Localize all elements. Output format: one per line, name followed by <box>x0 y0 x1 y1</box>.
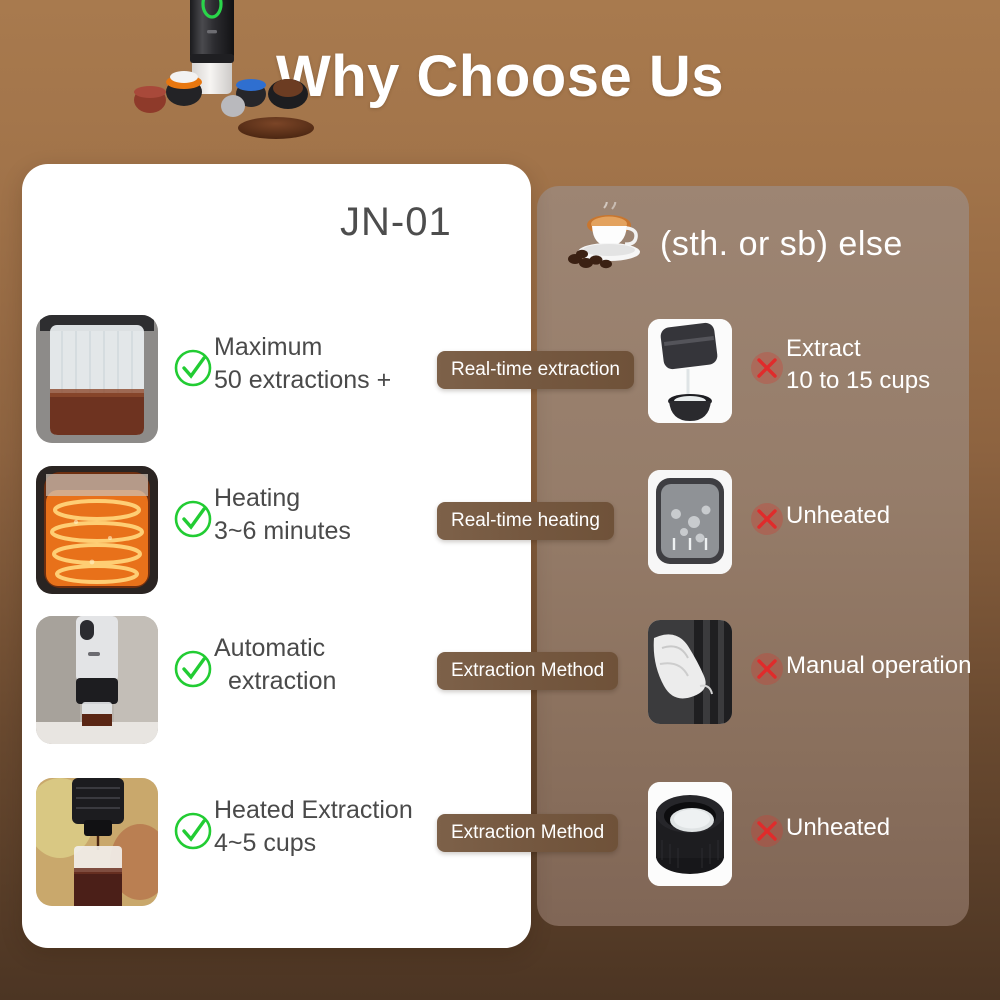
competitor-feature-text: Unheated <box>786 812 890 844</box>
our-feature-text: Heating3~6 minutes <box>214 482 351 548</box>
manual-press-pouring-thumbnail <box>648 319 732 423</box>
portable-espresso-machine-image <box>130 0 350 142</box>
automatic-brewing-machine-thumbnail <box>36 616 158 744</box>
competitor-feature-text: Extract10 to 15 cups <box>786 333 930 396</box>
black-filter-basket-thumbnail <box>648 782 732 886</box>
comparison-row: Heating3~6 minutes Real-time heating Unh… <box>0 456 1000 606</box>
comparison-row: Heated Extraction4~5 cups Extraction Met… <box>0 768 1000 918</box>
red-cross-circle-icon <box>748 650 786 688</box>
red-cross-circle-icon <box>748 349 786 387</box>
competitor-feature-text: Manual operation <box>786 650 971 682</box>
red-cross-circle-icon <box>748 500 786 538</box>
green-check-circle-icon <box>172 648 214 690</box>
comparison-criterion-badge: Real-time extraction <box>437 351 634 389</box>
comparison-row: Automatic extraction Extraction Method M… <box>0 606 1000 756</box>
green-check-circle-icon <box>172 498 214 540</box>
green-check-circle-icon <box>172 347 214 389</box>
comparison-criterion-badge: Extraction Method <box>437 652 618 690</box>
thumb-pressing-button-thumbnail <box>648 620 732 724</box>
cold-grey-chamber-thumbnail <box>648 470 732 574</box>
our-feature-text: Maximum50 extractions + <box>214 331 391 397</box>
competitor-product-name: (sth. or sb) else <box>660 225 903 264</box>
green-check-circle-icon <box>172 810 214 852</box>
latte-cup-image <box>562 202 662 270</box>
our-feature-text: Automatic extraction <box>214 632 336 698</box>
comparison-criterion-badge: Extraction Method <box>437 814 618 852</box>
competitor-feature-text: Unheated <box>786 500 890 532</box>
heating-coil-thumbnail <box>36 466 158 594</box>
red-cross-circle-icon <box>748 812 786 850</box>
comparison-row: Maximum50 extractions + Real-time extrac… <box>0 305 1000 455</box>
our-feature-text: Heated Extraction4~5 cups <box>214 794 413 860</box>
hot-espresso-pouring-thumbnail <box>36 778 158 906</box>
comparison-criterion-badge: Real-time heating <box>437 502 614 540</box>
coffee-grounds-chamber-thumbnail <box>36 315 158 443</box>
our-product-name: JN-01 <box>340 200 452 245</box>
